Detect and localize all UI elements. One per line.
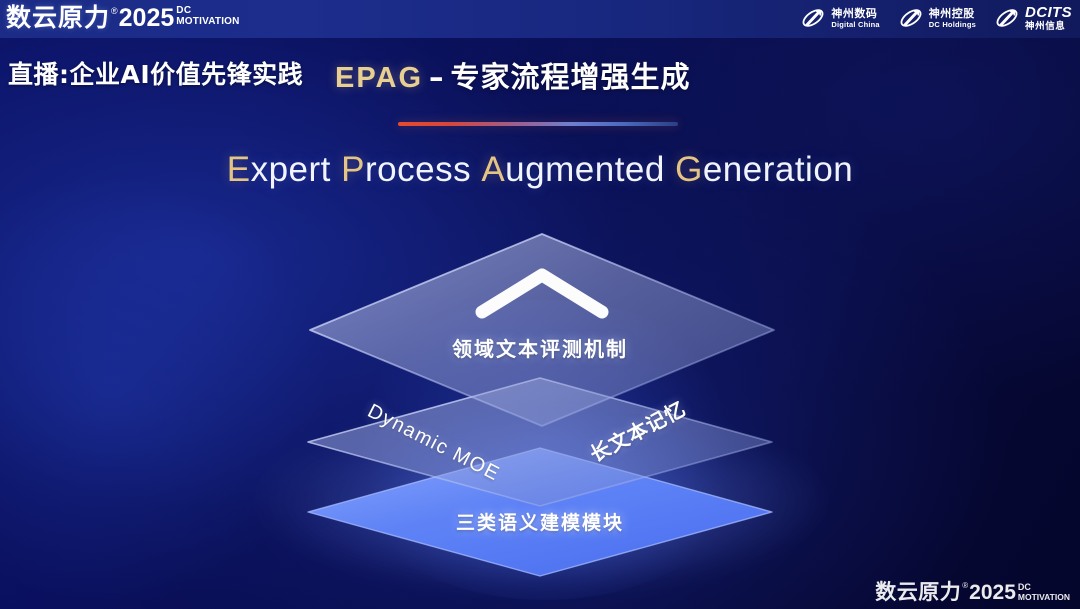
title-chinese: 专家流程增强生成	[451, 60, 691, 94]
stack-layer-middle	[308, 378, 772, 506]
watermark-dc-motivation: DC MOTIVATION	[1018, 583, 1070, 602]
partner-logo-dc-holdings: 神州控股 DC Holdings	[898, 5, 976, 31]
english-headline: Expert Process Augmented Generation	[0, 150, 1080, 190]
stack-label-bottom: 三类语义建模模块	[0, 508, 1080, 535]
brand-logo-year: 2025	[119, 4, 175, 32]
swoosh-icon	[898, 5, 924, 31]
partner-name-en: Digital China	[831, 21, 879, 29]
slide-canvas: 数云原力 ® 2025 DC MOTIVATION 神州数码	[0, 0, 1080, 609]
watermark-motivation: MOTIVATION	[1018, 592, 1070, 602]
headline-rest-generation: eneration	[703, 150, 853, 189]
watermark-registered: ®	[962, 581, 968, 591]
brand-logo-motivation: MOTIVATION	[176, 16, 239, 27]
watermark-logo: 数云原力 ® 2025 DC MOTIVATION	[875, 581, 1070, 604]
header-bar: 数云原力 ® 2025 DC MOTIVATION 神州数码	[0, 0, 1080, 38]
ambient-glow-left	[0, 180, 340, 600]
headline-cap-p: P	[341, 150, 365, 189]
partner-logo-text: 神州数码 Digital China	[831, 8, 879, 29]
partner-logo-text: DCITS 神州信息	[1025, 5, 1072, 32]
stack-label-middle-left: Dynamic MOE	[364, 400, 504, 487]
stack-layer-top	[310, 234, 774, 426]
headline-cap-e: E	[227, 150, 251, 189]
title-dash: –	[429, 60, 445, 94]
watermark-dc: DC	[1018, 583, 1070, 592]
watermark-cn: 数云原力	[875, 581, 961, 604]
headline-cap-a: A	[481, 150, 505, 189]
chevron-up-icon	[482, 275, 602, 312]
stack-label-middle-right: 长文本记忆	[584, 393, 690, 468]
title-acronym: EPAG	[335, 62, 423, 94]
watermark-year: 2025	[969, 581, 1016, 604]
brand-logo-cn: 数云原力	[6, 4, 110, 32]
headline-cap-g: G	[675, 150, 703, 189]
partner-logo-row: 神州数码 Digital China 神州控股 DC Holdings	[800, 5, 1072, 32]
brand-logo: 数云原力 ® 2025 DC MOTIVATION	[6, 4, 240, 32]
partner-name-cn: DCITS	[1025, 5, 1072, 20]
partner-logo-digital-china: 神州数码 Digital China	[800, 5, 879, 31]
headline-rest-expert: xpert	[251, 150, 331, 189]
headline-rest-augmented: ugmented	[505, 150, 665, 189]
headline-rest-process: rocess	[365, 150, 471, 189]
brand-logo-dc-motivation: DC MOTIVATION	[176, 6, 239, 27]
partner-name-cn: 神州控股	[929, 8, 976, 19]
brand-logo-registered: ®	[111, 5, 118, 17]
accent-divider	[398, 122, 678, 126]
partner-logo-text: 神州控股 DC Holdings	[929, 8, 976, 29]
swoosh-icon	[994, 5, 1020, 31]
live-subtitle: 直播:企业AI价值先锋实践	[8, 55, 303, 91]
swoosh-icon	[800, 5, 826, 31]
brand-logo-dc: DC	[176, 6, 239, 16]
partner-logo-dcits: DCITS 神州信息	[994, 5, 1072, 32]
page-title: EPAG–专家流程增强生成	[335, 54, 691, 96]
stack-label-top: 领域文本评测机制	[0, 333, 1080, 362]
partner-name-en: DC Holdings	[929, 21, 976, 29]
partner-name-cn: 神州数码	[831, 8, 879, 19]
partner-name-en: 神州信息	[1025, 22, 1072, 32]
